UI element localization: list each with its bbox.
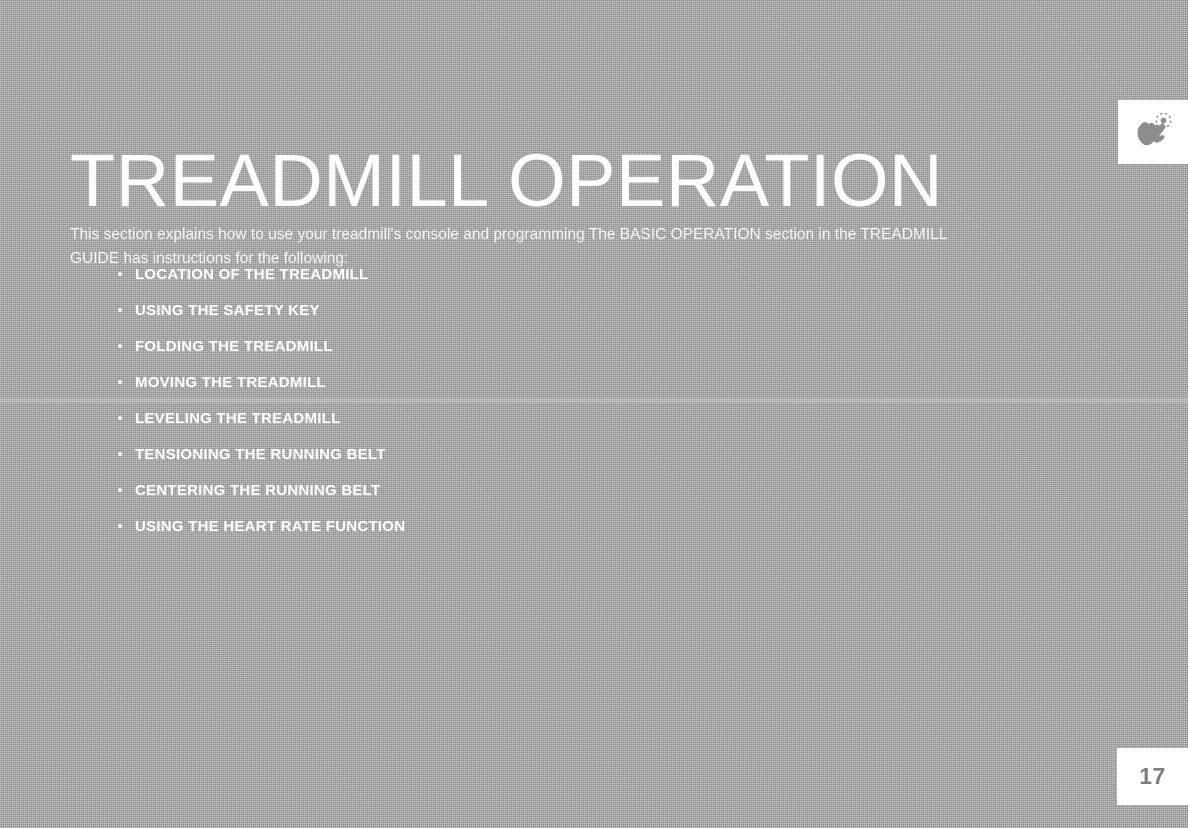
bullet-dot-icon — [118, 344, 122, 348]
list-item-label: LEVELING THE TREADMILL — [135, 410, 341, 427]
bullet-dot-icon — [118, 452, 122, 456]
section-marker-tab — [1118, 100, 1188, 164]
list-item: MOVING THE TREADMILL — [116, 371, 405, 407]
list-item: LEVELING THE TREADMILL — [116, 407, 405, 443]
list-item: CENTERING THE RUNNING BELT — [116, 479, 405, 515]
list-item: TENSIONING THE RUNNING BELT — [116, 443, 405, 479]
list-item-label: CENTERING THE RUNNING BELT — [135, 482, 380, 499]
list-item-label: USING THE SAFETY KEY — [135, 302, 320, 319]
list-item-label: FOLDING THE TREADMILL — [135, 338, 333, 355]
list-item-label: TENSIONING THE RUNNING BELT — [135, 446, 386, 463]
manual-page: TREADMILL OPERATION This section explain… — [0, 0, 1188, 828]
bullet-dot-icon — [118, 380, 122, 384]
page-title: TREADMILL OPERATION — [70, 138, 943, 224]
list-item-label: MOVING THE TREADMILL — [135, 374, 326, 391]
list-item: LOCATION OF THE TREADMILL — [116, 263, 405, 299]
bullet-dot-icon — [118, 272, 122, 276]
list-item: USING THE HEART RATE FUNCTION — [116, 515, 405, 551]
bullet-dot-icon — [118, 308, 122, 312]
list-item: FOLDING THE TREADMILL — [116, 335, 405, 371]
list-item-label: LOCATION OF THE TREADMILL — [135, 266, 368, 283]
hand-tap-icon — [1130, 109, 1176, 155]
bullet-dot-icon — [118, 488, 122, 492]
topic-list: LOCATION OF THE TREADMILL USING THE SAFE… — [116, 263, 405, 551]
page-number-tab: 17 — [1117, 748, 1188, 805]
list-item-label: USING THE HEART RATE FUNCTION — [135, 518, 405, 535]
bullet-dot-icon — [118, 524, 122, 528]
list-item: USING THE SAFETY KEY — [116, 299, 405, 335]
bullet-dot-icon — [118, 416, 122, 420]
page-number: 17 — [1139, 763, 1166, 790]
